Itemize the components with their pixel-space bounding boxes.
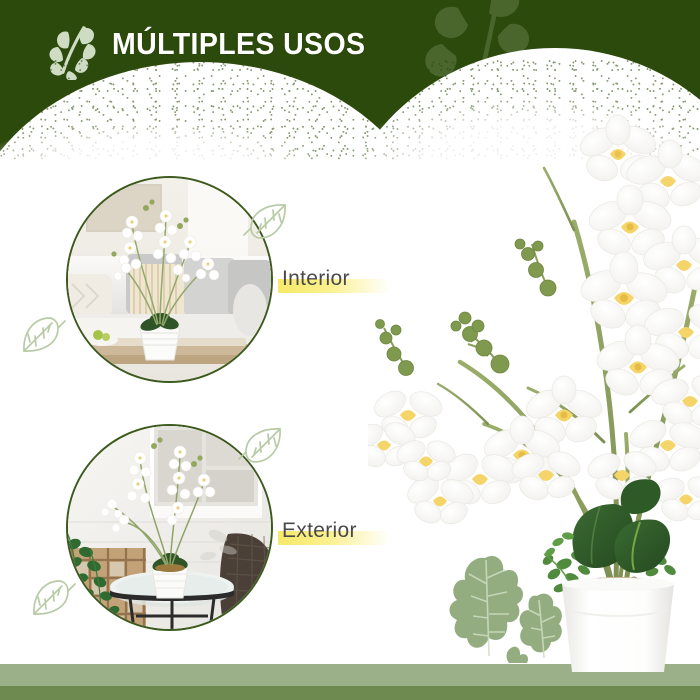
leaf-outline-top-right-interior-icon <box>243 200 291 244</box>
usage-label-exterior: Exterior <box>282 519 357 543</box>
fern-leaf-icon <box>42 24 98 80</box>
leaf-outline-bottom-left-interior-icon <box>18 312 66 356</box>
leaf-outline-top-right-exterior-icon <box>238 424 286 468</box>
product-infographic: MÚLTIPLES USOS <box>0 0 700 700</box>
ground-band-dark <box>0 686 700 700</box>
page-title: MÚLTIPLES USOS <box>112 26 365 62</box>
exterior-label-text: Exterior <box>282 519 357 543</box>
interior-scene-image <box>68 178 271 381</box>
leaf-outline-bottom-left-exterior-icon <box>28 575 76 619</box>
usage-label-interior: Interior <box>282 267 350 291</box>
interior-label-text: Interior <box>282 267 350 291</box>
photo-circle-interior[interactable] <box>66 176 273 383</box>
product-orchid-image <box>368 112 700 672</box>
